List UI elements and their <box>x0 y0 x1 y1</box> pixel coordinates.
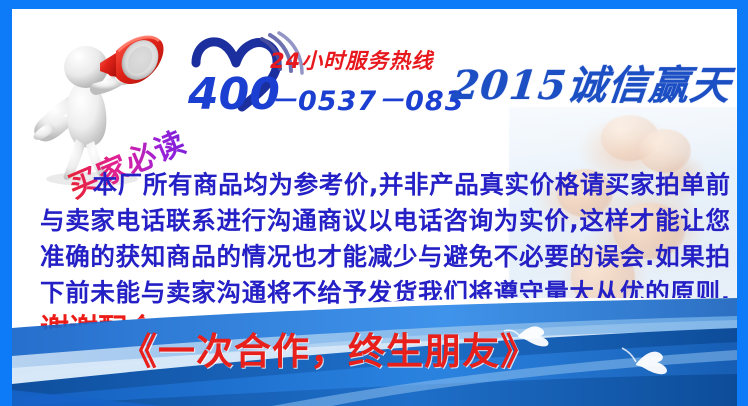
body-line-1: 本厂所有商品均为参考价,并非产品真实价格请买家拍单 <box>92 170 706 199</box>
hotline-phone-number: －0537－083 <box>270 79 465 118</box>
promo-banner: 400 24小时服务热线 －0537－083 2015诚信赢天下 买家必读 本厂… <box>0 0 748 406</box>
hotline-label: 24小时服务热线 <box>270 45 433 75</box>
footer-slogan: 《一次合作，终生朋友》 <box>120 321 538 375</box>
banner-canvas: 400 24小时服务热线 －0537－083 2015诚信赢天下 买家必读 本厂… <box>12 9 737 406</box>
svg-text:400: 400 <box>187 69 280 120</box>
year-slogan: 2015诚信赢天下 <box>449 53 737 111</box>
